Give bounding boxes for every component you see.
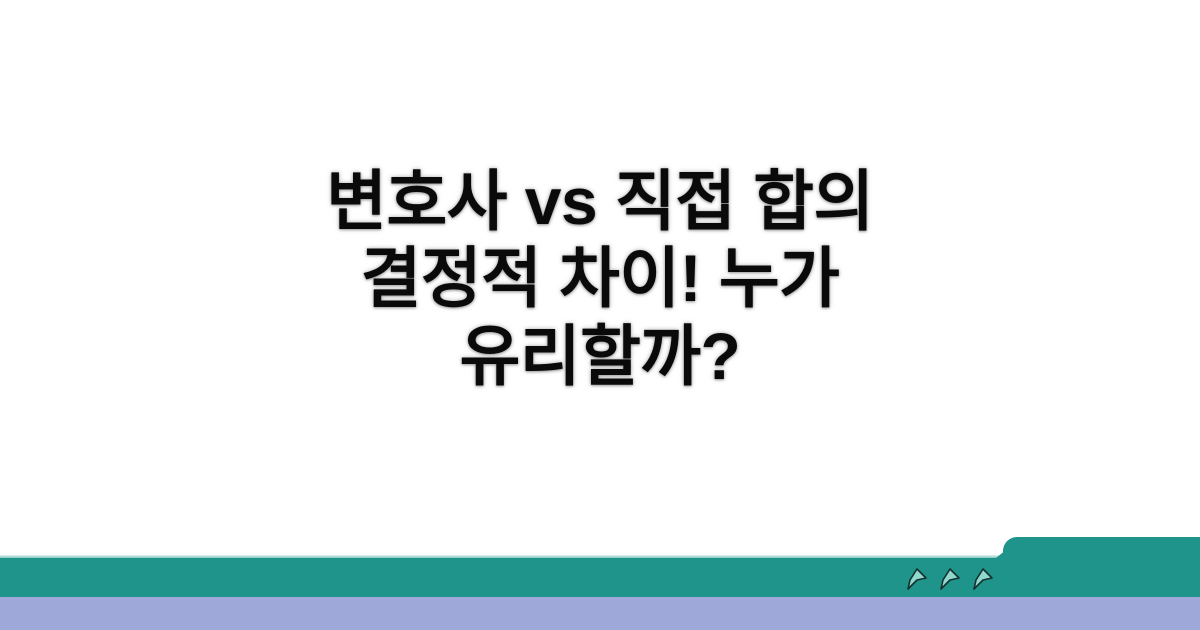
title-line-3: 유리할까? [326,318,873,395]
thumbnail-canvas: 변호사 vs 직접 합의 결정적 차이! 누가 유리할까? [0,0,1200,630]
teal-raised-step [1003,537,1200,597]
sparkle-diamond-2-icon [938,567,962,591]
sparkle-diamond-1-icon [905,567,929,591]
title-block: 변호사 vs 직접 합의 결정적 차이! 누가 유리할까? [0,0,1200,558]
title-line-1: 변호사 vs 직접 합의 [326,163,873,240]
footer-decoration [0,535,1200,630]
periwinkle-band [0,597,1200,630]
page-title: 변호사 vs 직접 합의 결정적 차이! 누가 유리할까? [326,163,873,395]
title-line-2: 결정적 차이! 누가 [326,240,873,317]
sparkle-diamond-3-icon [971,567,995,591]
sparkle-group [905,567,995,591]
